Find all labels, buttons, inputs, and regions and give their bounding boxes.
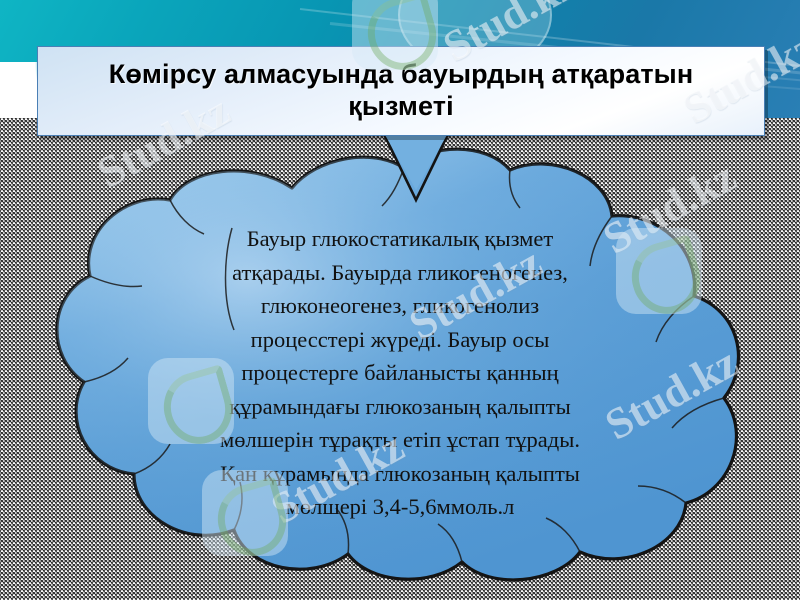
title-plate[interactable]: Көмірсу алмасуында бауырдың атқаратын қы…: [37, 46, 765, 136]
cloud-body-text: Бауыр глюкостатикалық қызмет атқарады. Б…: [130, 222, 670, 524]
page-title: Көмірсу алмасуында бауырдың атқаратын қы…: [38, 59, 764, 123]
slide-canvas: Көмірсу алмасуында бауырдың атқаратын қы…: [0, 0, 800, 600]
